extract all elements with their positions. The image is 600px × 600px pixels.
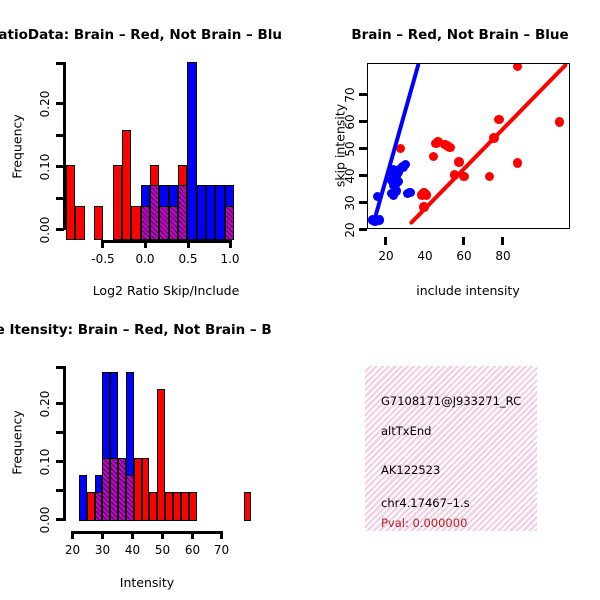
histogram-bar (215, 185, 224, 240)
scatter-y-ticklabel: 30 (343, 191, 357, 215)
scatter-x-tick (462, 237, 465, 245)
scatter-point (422, 190, 432, 200)
histogram-bar (113, 165, 122, 240)
ratio-hist-x-axis (101, 240, 232, 243)
scatter-point (489, 133, 499, 143)
histogram-bar (189, 492, 197, 521)
scatter-x-ticklabel: 60 (442, 249, 486, 263)
ratio-hist-y-ticklabel: 0.10 (38, 151, 52, 183)
gene-info-locus: chr4.17467–1.s (381, 496, 470, 510)
intensity-hist-x-tick (220, 531, 223, 539)
scatter-point (485, 172, 495, 182)
ratio-hist-x-tick (101, 240, 104, 248)
scatter-x-tick (501, 237, 504, 245)
histogram-bar-overlap (95, 492, 103, 521)
histogram-bar (181, 492, 189, 521)
ratio-histogram-title: RatioData: Brain – Red, Not Brain – Blu (0, 27, 282, 43)
histogram-bar (244, 492, 252, 521)
intensity-hist-y-tick (56, 460, 64, 463)
intensity-hist-plot-area (64, 366, 254, 521)
ratio-hist-plot-area (64, 55, 239, 240)
histogram-bar-overlap (118, 458, 126, 521)
scatter-point (373, 192, 383, 202)
intensity-hist-y-ticklabel: 0.00 (38, 504, 52, 536)
gene-info-accession: AK122523 (381, 463, 440, 477)
ratio-hist-y-tick (56, 197, 64, 200)
histogram-bar (134, 458, 142, 521)
scatter-point (494, 115, 504, 125)
scatter-point (513, 63, 523, 71)
gene-info-pval: Pval: 0.000000 (381, 516, 467, 530)
histogram-bar (79, 475, 87, 521)
ratio-hist-x-axis-title: Log2 Ratio Skip/Include (66, 283, 266, 298)
scatter-point (401, 160, 411, 170)
histogram-bar (206, 185, 215, 240)
intensity-hist-y-axis-title: Frequency (10, 408, 25, 478)
scatter-y-tick (359, 201, 367, 204)
intensity-hist-x-tick (161, 531, 164, 539)
histogram-bar-overlap (169, 206, 178, 240)
ratio-hist-y-tick (56, 62, 64, 65)
scatter-x-ticklabel: 80 (481, 249, 525, 263)
intensity-hist-y-tick (56, 431, 64, 434)
gene-info-probe-id: G7108171@J933271_RC (381, 394, 539, 408)
scatter-point (459, 172, 469, 182)
ratio-hist-y-ticklabel: 0.00 (38, 214, 52, 246)
scatter-point (555, 117, 565, 127)
histogram-bar (122, 130, 131, 240)
ratio-hist-y-axis-title: Frequency (10, 112, 25, 182)
histogram-bar-overlap (110, 458, 118, 521)
scatter-x-ticklabel: 20 (364, 249, 408, 263)
scatter-title: Brain – Red, Not Brain – Blue (335, 27, 585, 43)
intensity-hist-x-tick (131, 531, 134, 539)
scatter-y-tick (359, 147, 367, 150)
histogram-bar (149, 492, 157, 521)
histogram-bar (187, 62, 196, 240)
ratio-hist-x-ticklabel: 0.5 (166, 252, 210, 266)
ratio-hist-y-tick (56, 102, 64, 105)
scatter-plot-box (367, 63, 570, 229)
histogram-bar-overlap (159, 206, 168, 240)
gene-info-event-type: altTxEnd (381, 424, 431, 438)
histogram-bar (94, 206, 103, 240)
intensity-histogram-title: ne Itensity: Brain – Red, Not Brain – B (0, 322, 272, 338)
histogram-bar (157, 389, 165, 521)
scatter-point (513, 158, 523, 168)
scatter-y-tick (359, 228, 367, 231)
intensity-hist-y-tick (56, 489, 64, 492)
intensity-hist-x-tick (191, 531, 194, 539)
intensity-hist-y-tick (56, 518, 64, 521)
scatter-x-ticklabel: 40 (403, 249, 447, 263)
intensity-hist-x-axis (71, 531, 223, 534)
scatter-y-tick (359, 174, 367, 177)
ratio-hist-x-ticklabel: 1.0 (208, 252, 252, 266)
ratio-hist-y-ticklabel: 0.20 (38, 88, 52, 120)
scatter-point (405, 188, 415, 198)
scatter-x-axis-title: include intensity (368, 283, 568, 298)
scatter-y-axis-title: skip intensity (333, 101, 348, 191)
histogram-bar-overlap (178, 185, 187, 240)
ratio-hist-y-tick (56, 134, 64, 137)
scatter-point (445, 143, 455, 153)
ratio-hist-x-ticklabel: 0.0 (123, 252, 167, 266)
intensity-hist-x-axis-title: Intensity (67, 575, 227, 590)
ratio-hist-x-ticklabel: -0.5 (81, 252, 125, 266)
intensity-hist-y-ticklabel: 0.10 (38, 446, 52, 478)
ratio-hist-x-tick (229, 240, 232, 248)
histogram-bar-overlap (150, 185, 159, 240)
intensity-hist-y-tick (56, 366, 64, 369)
ratio-hist-x-tick (187, 240, 190, 248)
scatter-y-ticklabel: 20 (343, 218, 357, 242)
scatter-point (429, 152, 439, 162)
histogram-bar-overlap (225, 206, 234, 240)
histogram-bar-overlap (126, 475, 134, 521)
intensity-hist-x-tick (71, 531, 74, 539)
histogram-bar (131, 206, 140, 240)
intensity-hist-x-tick (101, 531, 104, 539)
scatter-point (419, 202, 429, 212)
scatter-point (450, 170, 460, 180)
histogram-bar (87, 492, 95, 521)
histogram-bar (75, 206, 84, 240)
regression-line (371, 63, 420, 225)
intensity-hist-y-tick (56, 402, 64, 405)
histogram-bar (142, 458, 150, 521)
histogram-bar (66, 165, 75, 240)
scatter-point (454, 157, 464, 167)
histogram-bar (165, 492, 173, 521)
histogram-bar-overlap (141, 206, 150, 240)
histogram-bar (197, 185, 206, 240)
ratio-hist-x-tick (144, 240, 147, 248)
ratio-hist-y-tick (56, 228, 64, 231)
scatter-x-tick (384, 237, 387, 245)
histogram-bar-overlap (102, 458, 110, 521)
scatter-point (375, 215, 385, 225)
intensity-hist-x-ticklabel: 70 (203, 543, 240, 557)
scatter-y-tick (359, 93, 367, 96)
histogram-bar (173, 492, 181, 521)
ratio-hist-y-tick (56, 165, 64, 168)
scatter-y-tick (359, 120, 367, 123)
intensity-hist-y-ticklabel: 0.20 (38, 388, 52, 420)
